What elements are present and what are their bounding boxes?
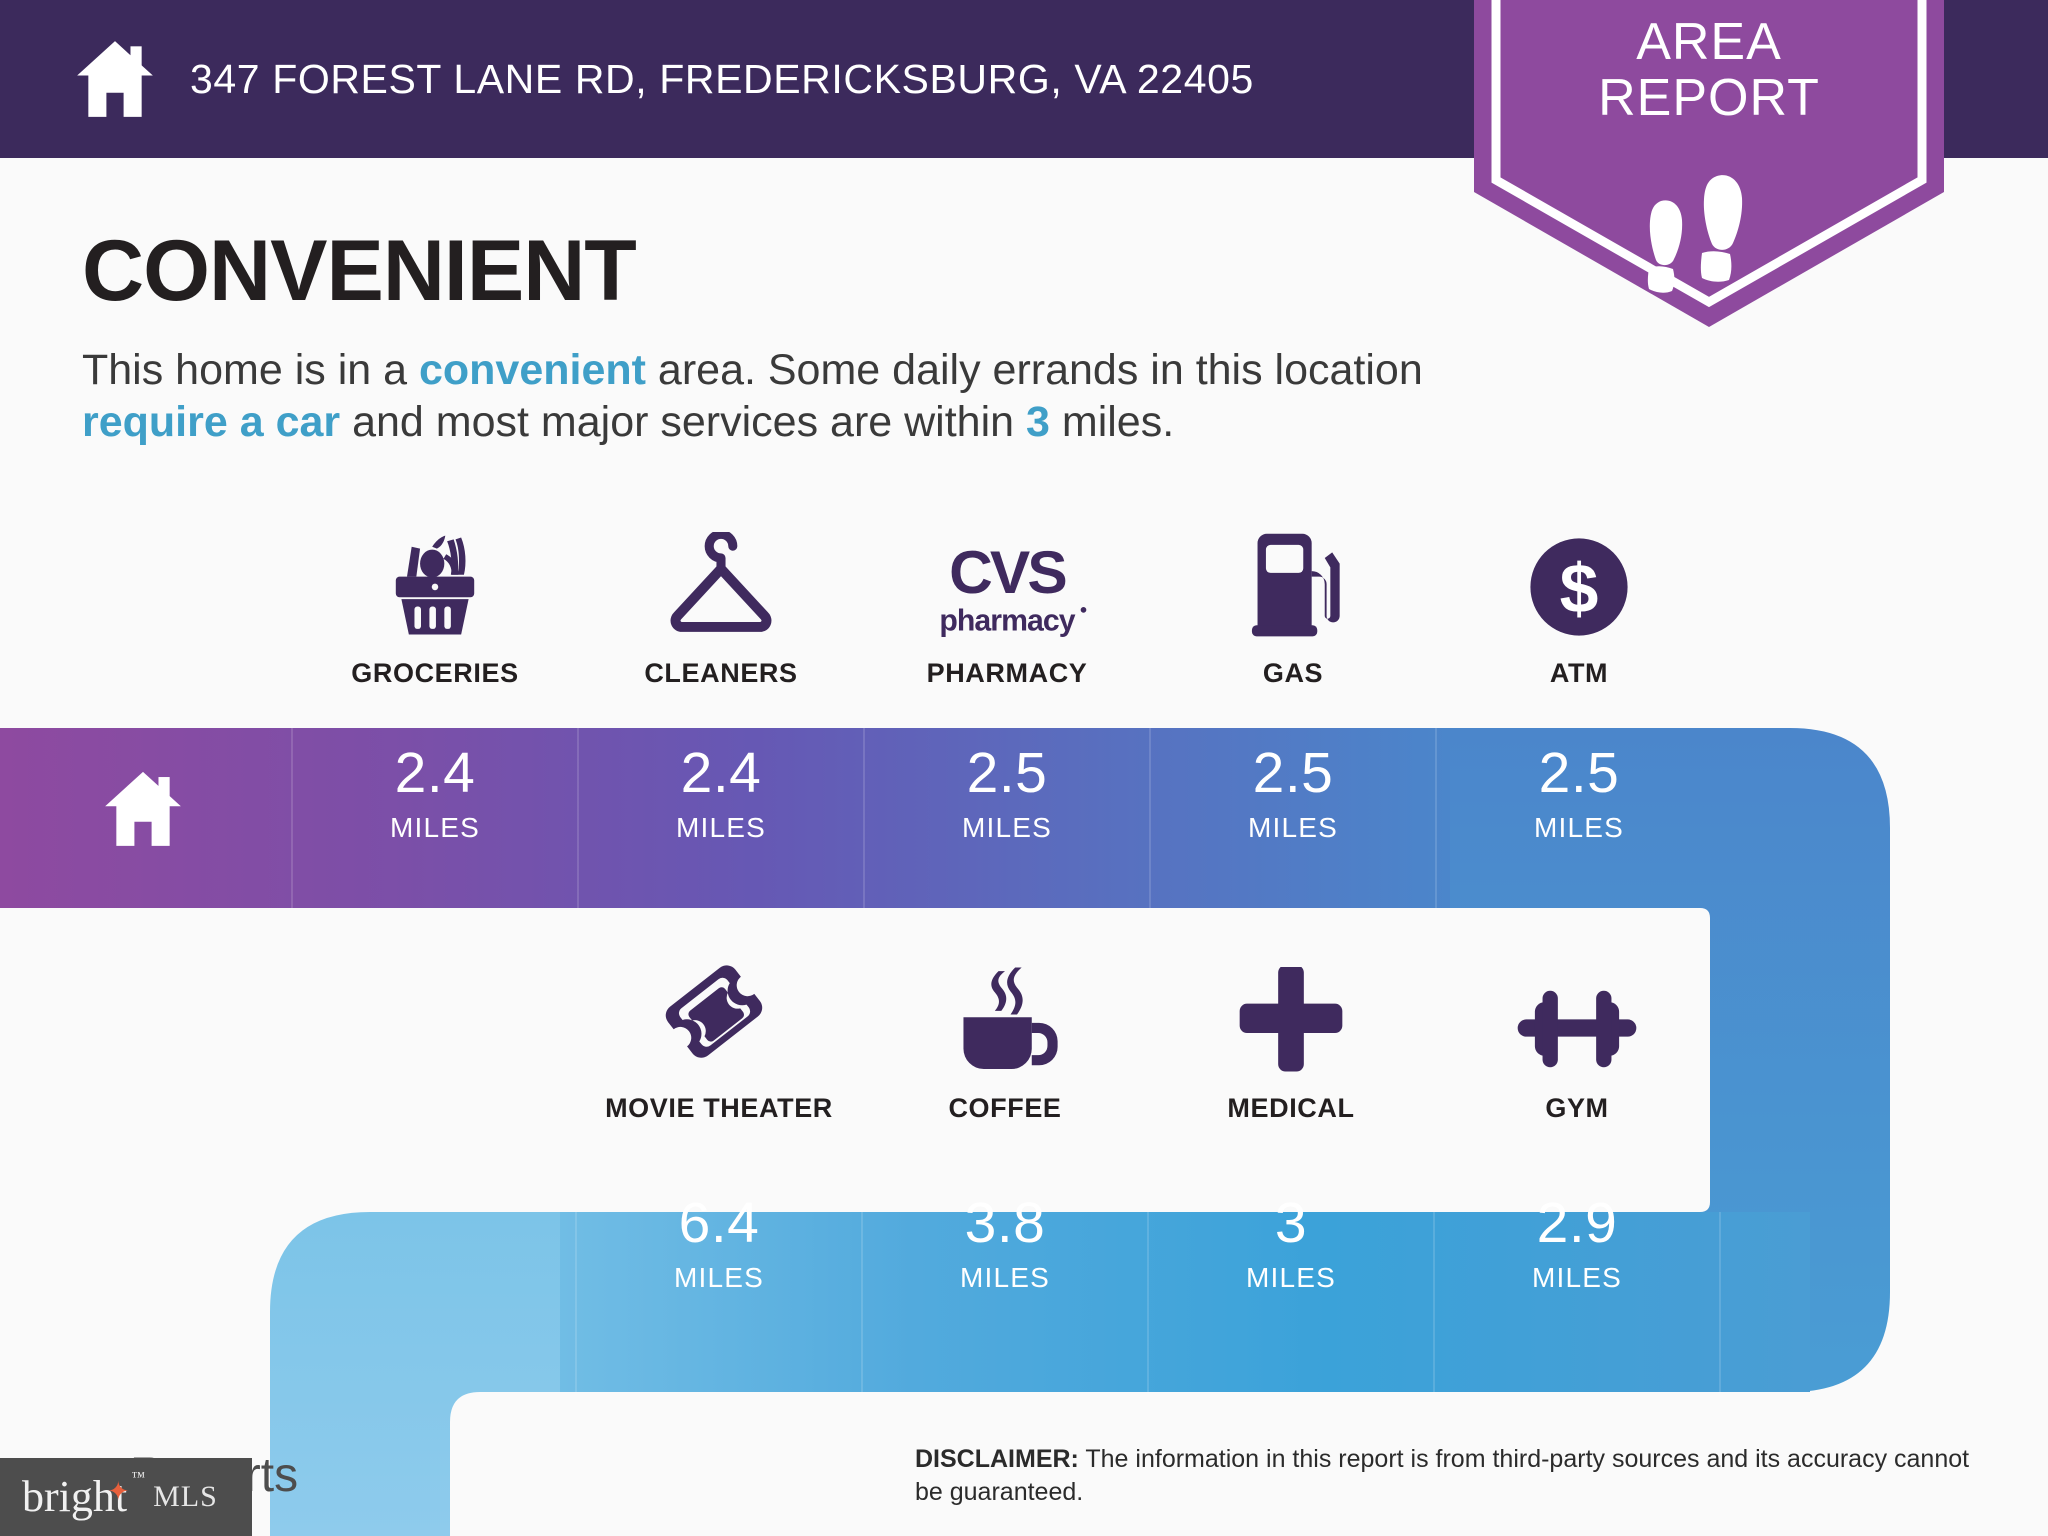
amenity-gym: GYM xyxy=(1434,955,1720,1124)
amenity-movie-theater: MOVIE THEATER xyxy=(576,955,862,1124)
intro-text-2: area. Some daily errands in this locatio… xyxy=(646,346,1423,394)
dollar-circle-icon: $ xyxy=(1524,520,1634,642)
coffee-cup-icon xyxy=(945,955,1065,1077)
page-title: CONVENIENT xyxy=(82,228,1462,314)
disclaimer: DISCLAIMER: The information in this repo… xyxy=(915,1443,1985,1509)
amenity-cleaners: CLEANERS xyxy=(578,520,864,689)
intro-paragraph: This home is in a convenient area. Some … xyxy=(82,344,1462,449)
sparkle-icon: ✦ xyxy=(107,1479,129,1505)
home-marker-icon xyxy=(100,765,186,851)
intro-block: CONVENIENT This home is in a convenient … xyxy=(82,228,1462,449)
svg-text:pharmacy: pharmacy xyxy=(939,605,1075,638)
amenity-groceries: GROCERIES xyxy=(292,520,578,689)
mls-brand-text: bright ✦ ™ xyxy=(22,1475,127,1519)
amenity-label: MOVIE THEATER xyxy=(605,1093,833,1124)
bright-mls-logo: bright ✦ ™ MLS xyxy=(0,1458,252,1536)
trademark-mark: ™ xyxy=(131,1471,145,1485)
intro-text-3: and most major services are within xyxy=(340,398,1026,446)
amenity-atm: $ ATM xyxy=(1436,520,1722,689)
amenity-label: CLEANERS xyxy=(644,658,797,689)
amenity-label: ATM xyxy=(1550,658,1608,689)
gas-pump-icon xyxy=(1237,520,1349,642)
medical-cross-icon xyxy=(1236,955,1346,1077)
property-address: 347 FOREST LANE RD, FREDERICKSBURG, VA 2… xyxy=(190,56,1254,103)
amenity-icon-row-1: GROCERIES CLEANERS CVS pharmacy PHARMACY xyxy=(292,520,1722,689)
area-report-badge: AREA REPORT xyxy=(1474,0,1944,332)
intro-text-4: miles. xyxy=(1050,398,1174,446)
amenity-label: GROCERIES xyxy=(351,658,518,689)
intro-text-1: This home is in a xyxy=(82,346,419,394)
disclaimer-label: DISCLAIMER: xyxy=(915,1445,1079,1473)
amenity-coffee: COFFEE xyxy=(862,955,1148,1124)
svg-text:$: $ xyxy=(1560,550,1599,628)
amenity-label: MEDICAL xyxy=(1227,1093,1354,1124)
intro-highlight-convenient: convenient xyxy=(419,346,646,394)
amenity-icon-row-2: MOVIE THEATER COFFEE MEDICAL xyxy=(576,955,1720,1124)
ribbon-left-turn xyxy=(270,1212,560,1536)
amenity-label: COFFEE xyxy=(948,1093,1061,1124)
dumbbell-icon xyxy=(1510,955,1644,1077)
amenity-medical: MEDICAL xyxy=(1148,955,1434,1124)
svg-text:CVS: CVS xyxy=(949,540,1065,606)
intro-highlight-require-car: require a car xyxy=(82,398,340,446)
movie-ticket-icon xyxy=(660,955,778,1077)
amenity-label: PHARMACY xyxy=(927,658,1088,689)
amenity-label: GYM xyxy=(1545,1093,1608,1124)
home-icon xyxy=(72,36,158,122)
ribbon-bottom-bar xyxy=(430,1212,1810,1392)
clothes-hanger-icon xyxy=(662,520,780,642)
mls-sub-text: MLS xyxy=(153,1480,218,1514)
amenity-label: GAS xyxy=(1263,658,1323,689)
amenity-pharmacy: CVS pharmacy PHARMACY xyxy=(864,520,1150,689)
ribbon-top-bar xyxy=(0,728,1450,908)
cvs-pharmacy-logo: CVS pharmacy xyxy=(917,520,1097,642)
intro-highlight-miles: 3 xyxy=(1026,398,1050,446)
grocery-basket-icon xyxy=(379,520,491,642)
amenity-gas: GAS xyxy=(1150,520,1436,689)
